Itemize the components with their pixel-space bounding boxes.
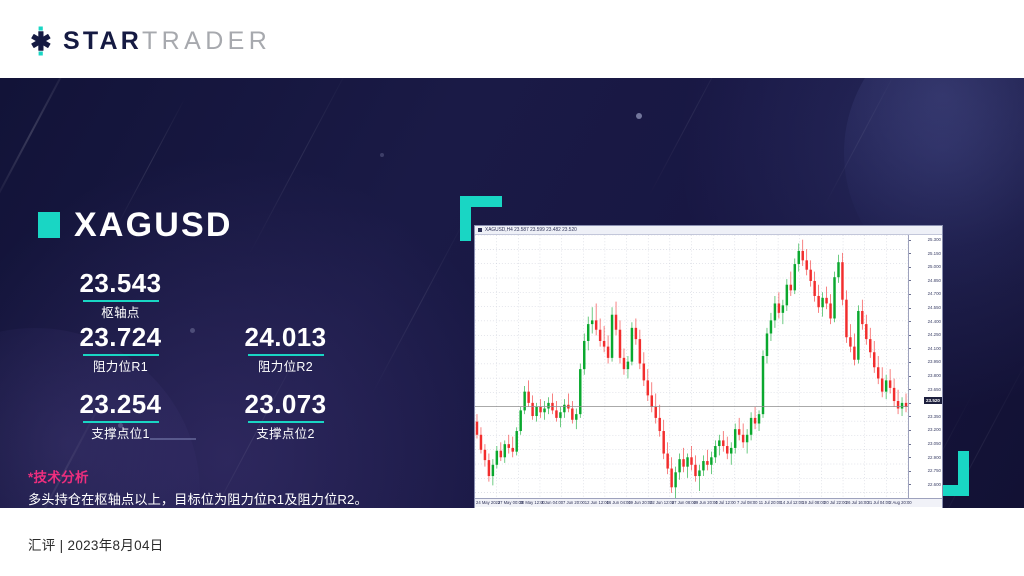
price-tick-label: 25.000	[928, 264, 941, 269]
price-tick-label: 25.150	[928, 251, 941, 256]
price-tick-label: 24.250	[928, 332, 941, 337]
instrument-marker-icon	[38, 212, 60, 238]
candlestick-plot[interactable]	[475, 235, 908, 507]
price-tick-label: 22.750	[928, 468, 941, 473]
support-row: 23.254 支撑点位1 23.073 支撑点位2	[38, 389, 368, 456]
page-footer: 汇评 | 2023年8月04日	[0, 508, 1024, 576]
main-dark-panel: XAGUSD 23.543 枢轴点 23.724 阻力位R1 24.013 阻力…	[0, 78, 1024, 508]
time-tick-label: 4 Jun 04:00	[541, 500, 563, 506]
decorative-dot	[380, 153, 384, 157]
page-title: XAGUSD	[74, 208, 233, 242]
time-axis[interactable]: 24 May 202327 May 00:0030 May 12:004 Jun…	[475, 498, 942, 507]
price-tick-label: 23.650	[928, 387, 941, 392]
time-tick-label: 26 Jul 16:00	[846, 500, 869, 506]
price-tick-mark	[909, 362, 911, 363]
price-tick-label: 24.850	[928, 278, 941, 283]
price-tick-label: 24.100	[928, 346, 941, 351]
time-tick-label: 31 Jul 04:00	[868, 500, 891, 506]
price-tick-mark	[909, 389, 911, 390]
s1-value: 23.254	[38, 389, 203, 419]
price-tick-mark	[909, 335, 911, 336]
price-tick-mark	[909, 308, 911, 309]
analysis-heading: *技术分析	[28, 468, 418, 488]
star-asterisk-icon	[26, 26, 56, 56]
chart-symbol-icon	[478, 228, 482, 232]
price-tick-label: 24.550	[928, 305, 941, 310]
underline-rule	[83, 354, 159, 356]
price-tick-mark	[909, 376, 911, 377]
resistance-row: 23.724 阻力位R1 24.013 阻力位R2	[38, 322, 368, 389]
brand-name-bold: STAR	[63, 27, 142, 55]
price-axis[interactable]: 25.30025.15025.00024.85024.70024.55024.4…	[908, 235, 942, 507]
chart-header-text: XAGUSD,H4 23.587 23.599 23.482 23.520	[485, 227, 577, 233]
decorative-streak	[248, 78, 353, 255]
price-tick-mark	[909, 457, 911, 458]
time-tick-label: 4 Jul 12:00	[715, 500, 736, 506]
underline-rule	[83, 300, 159, 302]
s2-value: 23.073	[203, 389, 368, 419]
decorative-streak	[371, 210, 471, 396]
price-tick-label: 24.700	[928, 291, 941, 296]
footer-date: 汇评 | 2023年8月04日	[28, 534, 164, 554]
pivot-label: 枢轴点	[53, 305, 188, 321]
price-tick-label: 22.900	[928, 455, 941, 460]
time-tick-label: 7 Jun 20:00	[563, 500, 585, 506]
s1-label: 支撑点位1	[38, 426, 203, 442]
price-tick-mark	[909, 471, 911, 472]
time-tick-label: 19 Jun 20:00	[628, 500, 652, 506]
time-tick-label: 12 Jun 12:00	[585, 500, 609, 506]
price-tick-label: 23.200	[928, 427, 941, 432]
time-tick-label: 7 Jul 08:00	[737, 500, 758, 506]
s2-label: 支撑点位2	[203, 426, 368, 442]
price-tick-mark	[909, 267, 911, 268]
brand-wordmark: STARTRADER	[63, 26, 271, 56]
price-tick-mark	[909, 416, 911, 417]
price-tick-mark	[909, 403, 911, 404]
r2-label: 阻力位R2	[203, 359, 368, 375]
support-resistance-grid: 23.724 阻力位R1 24.013 阻力位R2 23.254 支撑点位1	[38, 322, 368, 456]
pivot-value: 23.543	[53, 268, 188, 298]
price-tick-label: 23.350	[928, 414, 941, 419]
price-chart-window[interactable]: XAGUSD,H4 23.587 23.599 23.482 23.520 25…	[474, 225, 943, 508]
resistance-1: 23.724 阻力位R1	[38, 322, 203, 375]
support-2: 23.073 支撑点位2	[203, 389, 368, 442]
r2-value: 24.013	[203, 322, 368, 352]
time-tick-label: 24 May 2023	[476, 500, 500, 506]
decorative-streak	[0, 78, 76, 217]
underline-rule	[248, 421, 324, 423]
resistance-2: 24.013 阻力位R2	[203, 322, 368, 375]
price-tick-mark	[909, 430, 911, 431]
slide-root: STARTRADER XAGUSD 23.543	[0, 0, 1024, 576]
time-tick-label: 2 Aug 20:00	[889, 500, 911, 506]
underline-rule	[83, 421, 159, 423]
pivot-level: 23.543 枢轴点	[53, 268, 188, 321]
time-tick-label: 27 Jun 08:00	[672, 500, 696, 506]
r1-label: 阻力位R1	[38, 359, 203, 375]
r1-value: 23.724	[38, 322, 203, 352]
time-tick-label: 29 Jun 20:00	[694, 500, 718, 506]
instrument-title: XAGUSD	[38, 208, 233, 242]
chart-body[interactable]: 25.30025.15025.00024.85024.70024.55024.4…	[475, 235, 942, 507]
price-tick-label: 23.800	[928, 373, 941, 378]
price-tick-mark	[909, 294, 911, 295]
price-tick-mark	[909, 321, 911, 322]
brand-logo: STARTRADER	[26, 26, 271, 56]
decorative-dot	[636, 113, 642, 119]
price-tick-mark	[909, 280, 911, 281]
decorative-streak	[648, 78, 734, 198]
analysis-text: 多头持仓在枢轴点以上，目标位为阻力位R1及阻力位R2。 若低于枢轴点，则可能下跌…	[28, 490, 418, 508]
technical-analysis-block: *技术分析 多头持仓在枢轴点以上，目标位为阻力位R1及阻力位R2。 若低于枢轴点…	[28, 468, 418, 508]
price-tick-label: 24.400	[928, 319, 941, 324]
time-tick-label: 14 Jul 12:00	[781, 500, 804, 506]
price-tick-mark	[909, 253, 911, 254]
time-tick-label: 16 Jun 04:00	[607, 500, 631, 506]
support-1: 23.254 支撑点位1	[38, 389, 203, 442]
brand-name-light: TRADER	[142, 27, 271, 55]
price-tick-label: 25.300	[928, 237, 941, 242]
time-tick-label: 11 Jul 20:00	[759, 500, 782, 506]
price-tick-mark	[909, 484, 911, 485]
current-price-marker: 23.520	[924, 397, 942, 404]
price-tick-label: 23.050	[928, 441, 941, 446]
time-tick-label: 19 Jul 08:00	[802, 500, 825, 506]
price-tick-label: 22.600	[928, 482, 941, 487]
price-tick-mark	[909, 348, 911, 349]
analysis-line-1: 多头持仓在枢轴点以上，目标位为阻力位R1及阻力位R2。	[28, 490, 418, 508]
time-tick-label: 20 Jul 22:00	[824, 500, 847, 506]
underline-rule	[248, 354, 324, 356]
price-tick-label: 23.950	[928, 359, 941, 364]
page-header: STARTRADER	[0, 0, 1024, 78]
chart-title-bar: XAGUSD,H4 23.587 23.599 23.482 23.520	[475, 226, 942, 235]
price-tick-mark	[909, 444, 911, 445]
price-tick-mark	[909, 240, 911, 241]
time-tick-label: 22 Jun 12:00	[650, 500, 674, 506]
